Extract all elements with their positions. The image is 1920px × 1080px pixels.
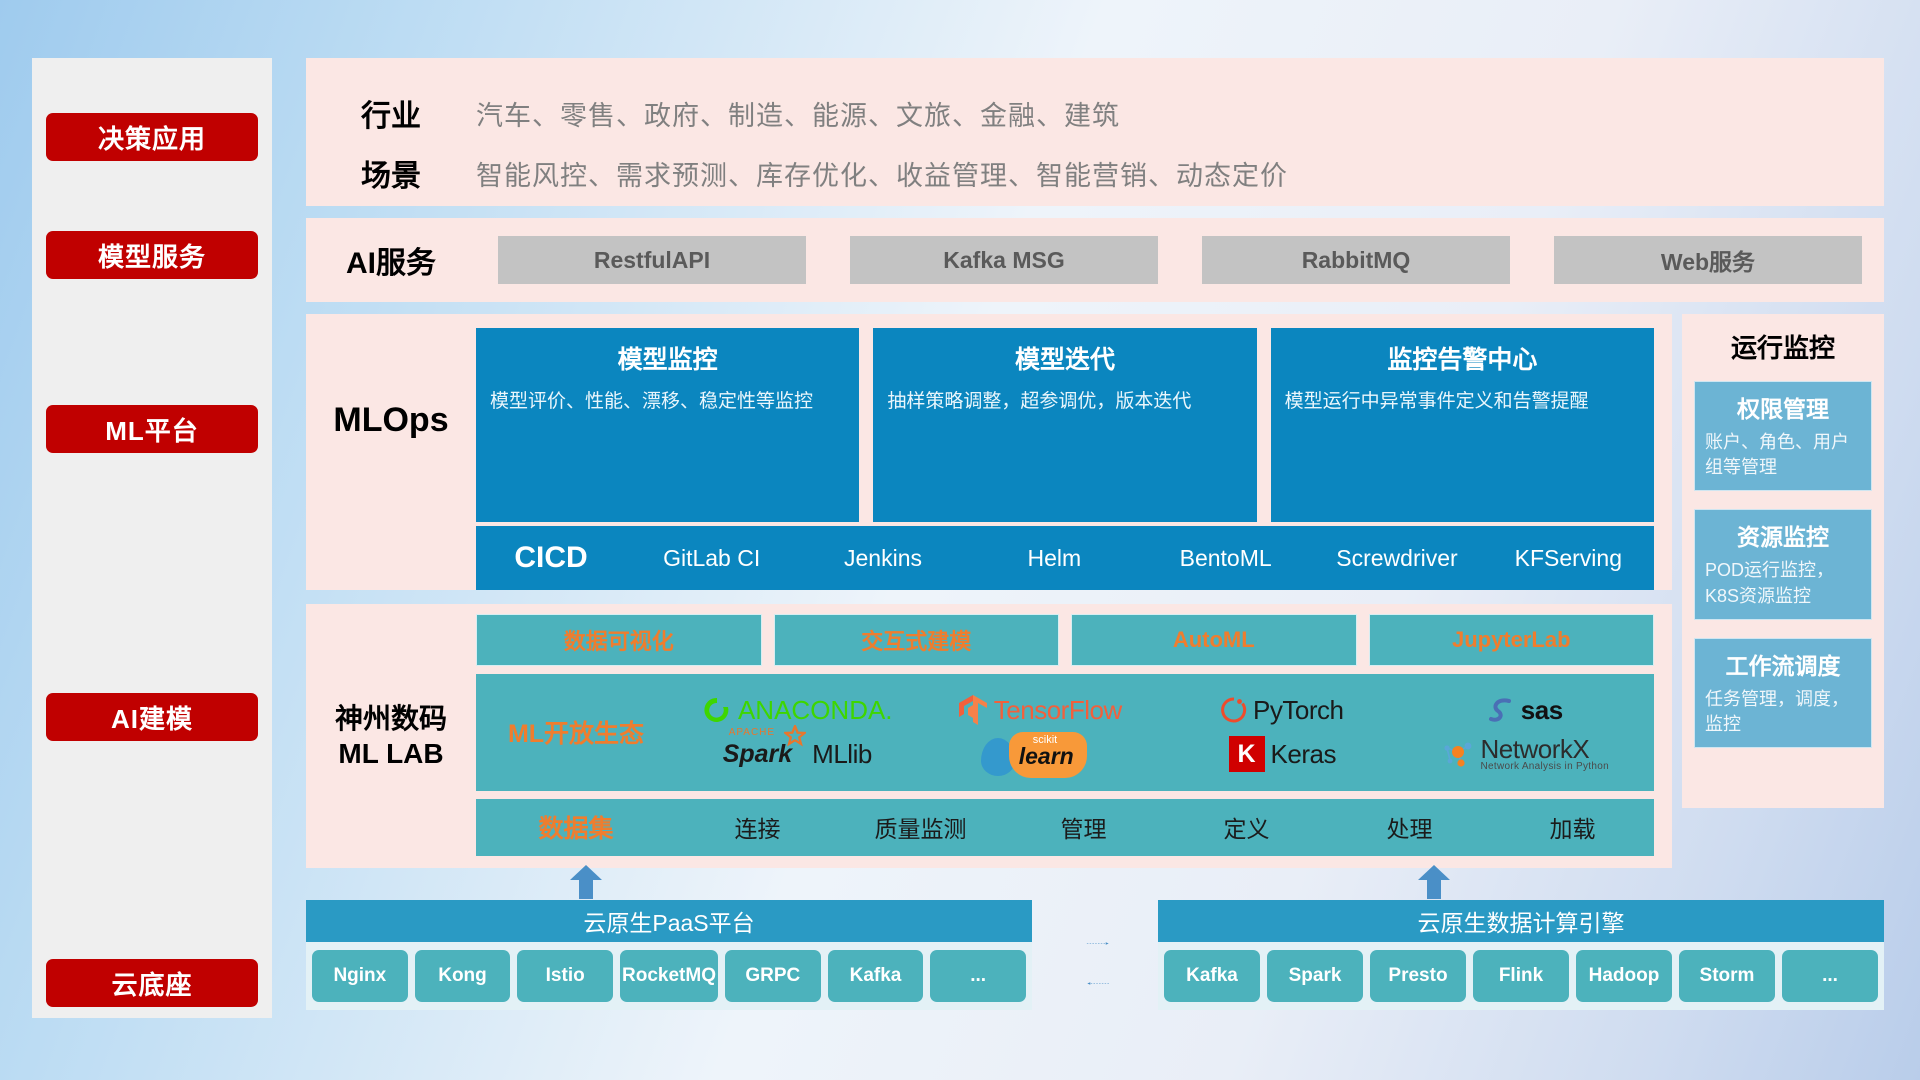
scenario-row: 场景 智能风控、需求预测、库存优化、收益管理、智能营销、动态定价 xyxy=(306,151,1884,195)
ai-service-chip-kafka-msg[interactable]: Kafka MSG xyxy=(850,236,1158,284)
platform-column: MLOps 模型监控 模型评价、性能、漂移、稳定性等监控 模型迭代 抽样策略调整… xyxy=(306,314,1672,868)
ecosystem-logo-grid: ANACONDA. TensorFlow xyxy=(676,688,1654,776)
data-chip-spark[interactable]: Spark xyxy=(1267,950,1363,1002)
pytorch-label: PyTorch xyxy=(1253,695,1343,726)
card-desc: 模型运行中异常事件定义和告警提醒 xyxy=(1285,388,1640,416)
cicd-label: CICD xyxy=(476,541,626,575)
learn-word: learn xyxy=(1019,743,1074,770)
platform-and-monitor-wrap: MLOps 模型监控 模型评价、性能、漂移、稳定性等监控 模型迭代 抽样策略调整… xyxy=(306,314,1884,868)
spark-icon: APACHE Spark xyxy=(723,740,792,769)
mlops-band: MLOps 模型监控 模型评价、性能、漂移、稳定性等监控 模型迭代 抽样策略调整… xyxy=(306,314,1672,590)
anaconda-icon xyxy=(702,695,732,725)
networkx-icon xyxy=(1441,738,1475,770)
mlops-card-model-monitoring[interactable]: 模型监控 模型评价、性能、漂移、稳定性等监控 xyxy=(476,328,859,522)
ml-open-ecosystem-label: ML开放生态 xyxy=(476,714,676,750)
cloud-native-paas-group: 云原生PaaS平台 Nginx Kong Istio RocketMQ GRPC… xyxy=(306,900,1032,1010)
ml-lab-label-line1: 神州数码 xyxy=(335,701,447,736)
networkx-label: NetworkX xyxy=(1481,736,1609,762)
dataset-item-process[interactable]: 处理 xyxy=(1328,810,1491,844)
dataset-item-define[interactable]: 定义 xyxy=(1165,810,1328,844)
dataset-item-quality[interactable]: 质量监测 xyxy=(839,810,1002,844)
ai-service-band: AI服务 RestfulAPI Kafka MSG RabbitMQ Web服务 xyxy=(306,218,1884,302)
data-chip-flink[interactable]: Flink xyxy=(1473,950,1569,1002)
tensorflow-label: TensorFlow xyxy=(994,695,1122,726)
paas-chip-kafka[interactable]: Kafka xyxy=(828,950,924,1002)
run-monitor-column: 运行监控 权限管理 账户、角色、用户组等管理 资源监控 POD运行监控，K8S资… xyxy=(1682,314,1884,868)
dashed-arrow-right-icon xyxy=(1046,942,1150,945)
paas-title: 云原生PaaS平台 xyxy=(306,900,1032,942)
keras-logo: K Keras xyxy=(1229,736,1336,772)
dataset-row: 数据集 连接 质量监测 管理 定义 处理 加载 xyxy=(476,799,1654,856)
cicd-item-helm[interactable]: Helm xyxy=(969,542,1140,574)
monitor-card-resource[interactable]: 资源监控 POD运行监控，K8S资源监控 xyxy=(1694,509,1872,619)
data-engine-title: 云原生数据计算引擎 xyxy=(1158,900,1884,942)
sas-icon xyxy=(1487,695,1515,725)
scenario-label: 场景 xyxy=(306,151,476,195)
cicd-item-screwdriver[interactable]: Screwdriver xyxy=(1311,542,1482,574)
industry-scenario-band: 行业 汽车、零售、政府、制造、能源、文旅、金融、建筑 场景 智能风控、需求预测、… xyxy=(306,58,1884,206)
card-desc: 模型评价、性能、漂移、稳定性等监控 xyxy=(490,388,845,416)
ai-service-chip-group: RestfulAPI Kafka MSG RabbitMQ Web服务 xyxy=(476,236,1884,284)
rail-item-ai-modeling[interactable]: AI建模 xyxy=(46,693,258,741)
run-monitor-title: 运行监控 xyxy=(1694,328,1872,365)
paas-chip-group: Nginx Kong Istio RocketMQ GRPC Kafka ... xyxy=(306,942,1032,1010)
mllib-label: MLlib xyxy=(812,739,872,770)
card-desc: 账户、角色、用户组等管理 xyxy=(1705,430,1861,480)
sas-logo: sas xyxy=(1487,695,1563,726)
monitor-card-permission[interactable]: 权限管理 账户、角色、用户组等管理 xyxy=(1694,381,1872,491)
rail-item-ml-platform[interactable]: ML平台 xyxy=(46,405,258,453)
networkx-tagline: Network Analysis in Python xyxy=(1481,762,1609,772)
rail-item-model-service[interactable]: 模型服务 xyxy=(46,231,258,279)
rail-item-cloud-base[interactable]: 云底座 xyxy=(46,959,258,1007)
industry-label: 行业 xyxy=(306,91,476,135)
card-desc: 任务管理，调度，监控 xyxy=(1705,687,1861,737)
scikit-learn-logo: scikit learn xyxy=(981,732,1099,776)
dataset-item-connect[interactable]: 连接 xyxy=(676,810,839,844)
mlops-label: MLOps xyxy=(306,314,476,526)
ml-lab-row: 神州数码 ML LAB 数据可视化 交互式建模 AutoML JupyterLa… xyxy=(306,604,1672,868)
card-title: 监控告警中心 xyxy=(1285,340,1640,376)
industry-row: 行业 汽车、零售、政府、制造、能源、文旅、金融、建筑 xyxy=(306,91,1884,135)
spark-apache-label: APACHE xyxy=(729,727,775,738)
mlops-card-group: 模型监控 模型评价、性能、漂移、稳定性等监控 模型迭代 抽样策略调整，超参调优，… xyxy=(476,314,1672,526)
pytorch-logo: PyTorch xyxy=(1221,695,1343,726)
paas-chip-more[interactable]: ... xyxy=(930,950,1026,1002)
left-rail: 决策应用 模型服务 ML平台 AI建模 云底座 xyxy=(32,58,272,1018)
ml-lab-tool-chip-group: 数据可视化 交互式建模 AutoML JupyterLab xyxy=(476,614,1654,666)
pytorch-icon xyxy=(1221,695,1247,725)
card-title: 模型迭代 xyxy=(887,340,1242,376)
cloud-base-section: 云原生PaaS平台 Nginx Kong Istio RocketMQ GRPC… xyxy=(306,870,1884,1030)
ml-lab-label-line2: ML LAB xyxy=(338,736,443,771)
spark-mllib-logo: APACHE Spark MLlib xyxy=(723,739,872,770)
cicd-item-jenkins[interactable]: Jenkins xyxy=(797,542,968,574)
dataset-label: 数据集 xyxy=(476,809,676,845)
data-engine-chip-group: Kafka Spark Presto Flink Hadoop Storm ..… xyxy=(1158,942,1884,1010)
scenario-values: 智能风控、需求预测、库存优化、收益管理、智能营销、动态定价 xyxy=(476,154,1288,193)
ai-service-chip-restfulapi[interactable]: RestfulAPI xyxy=(498,236,806,284)
ml-lab-band: 神州数码 ML LAB 数据可视化 交互式建模 AutoML JupyterLa… xyxy=(306,604,1672,868)
cicd-item-kfserving[interactable]: KFServing xyxy=(1483,542,1654,574)
data-chip-more[interactable]: ... xyxy=(1782,950,1878,1002)
card-desc: 抽样策略调整，超参调优，版本迭代 xyxy=(887,388,1242,416)
spark-star-icon xyxy=(784,725,806,747)
cicd-row: CICD GitLab CI Jenkins Helm BentoML Scre… xyxy=(476,526,1654,590)
data-chip-kafka[interactable]: Kafka xyxy=(1164,950,1260,1002)
tensorflow-icon xyxy=(958,694,988,726)
dashed-arrow-left-icon xyxy=(1046,982,1150,985)
card-title: 权限管理 xyxy=(1705,390,1861,424)
cloud-native-data-engine-group: 云原生数据计算引擎 Kafka Spark Presto Flink Hadoo… xyxy=(1158,900,1884,1010)
spark-word: Spark xyxy=(723,740,792,768)
ml-lab-body: 数据可视化 交互式建模 AutoML JupyterLab ML开放生态 xyxy=(476,604,1672,868)
card-desc: POD运行监控，K8S资源监控 xyxy=(1705,558,1861,608)
card-title: 资源监控 xyxy=(1705,518,1861,552)
mlops-card-model-iteration[interactable]: 模型迭代 抽样策略调整，超参调优，版本迭代 xyxy=(873,328,1256,522)
tool-chip-interactive-modeling[interactable]: 交互式建模 xyxy=(774,614,1060,666)
data-chip-storm[interactable]: Storm xyxy=(1679,950,1775,1002)
paas-chip-nginx[interactable]: Nginx xyxy=(312,950,408,1002)
scikit-learn-icon: scikit learn xyxy=(981,732,1099,776)
dataset-item-manage[interactable]: 管理 xyxy=(1002,810,1165,844)
main-stack: 行业 汽车、零售、政府、制造、能源、文旅、金融、建筑 场景 智能风控、需求预测、… xyxy=(306,58,1884,868)
up-arrow-data-engine-icon xyxy=(1416,865,1452,899)
ml-lab-label: 神州数码 ML LAB xyxy=(306,604,476,868)
tool-chip-automl[interactable]: AutoML xyxy=(1071,614,1357,666)
tool-chip-jupyterlab[interactable]: JupyterLab xyxy=(1369,614,1655,666)
keras-label: Keras xyxy=(1271,739,1336,770)
industry-values: 汽车、零售、政府、制造、能源、文旅、金融、建筑 xyxy=(476,94,1120,133)
ml-open-ecosystem-row: ML开放生态 ANACONDA. xyxy=(476,674,1654,791)
keras-icon: K xyxy=(1229,736,1265,772)
monitor-card-workflow[interactable]: 工作流调度 任务管理，调度，监控 xyxy=(1694,638,1872,748)
data-chip-hadoop[interactable]: Hadoop xyxy=(1576,950,1672,1002)
run-monitor-panel: 运行监控 权限管理 账户、角色、用户组等管理 资源监控 POD运行监控，K8S资… xyxy=(1682,314,1884,808)
mlops-card-alert-center[interactable]: 监控告警中心 模型运行中异常事件定义和告警提醒 xyxy=(1271,328,1654,522)
paas-chip-istio[interactable]: Istio xyxy=(517,950,613,1002)
tool-chip-data-visualization[interactable]: 数据可视化 xyxy=(476,614,762,666)
paas-chip-kong[interactable]: Kong xyxy=(415,950,511,1002)
sas-label: sas xyxy=(1521,695,1563,726)
tensorflow-logo: TensorFlow xyxy=(958,694,1122,726)
dataset-item-load[interactable]: 加载 xyxy=(1491,810,1654,844)
paas-chip-grpc[interactable]: GRPC xyxy=(725,950,821,1002)
anaconda-label: ANACONDA. xyxy=(738,695,893,726)
ai-service-chip-rabbitmq[interactable]: RabbitMQ xyxy=(1202,236,1510,284)
mlops-cards-row: MLOps 模型监控 模型评价、性能、漂移、稳定性等监控 模型迭代 抽样策略调整… xyxy=(306,314,1672,526)
anaconda-logo: ANACONDA. xyxy=(702,695,893,726)
card-title: 模型监控 xyxy=(490,340,845,376)
paas-chip-rocketmq[interactable]: RocketMQ xyxy=(620,950,718,1002)
networkx-logo: NetworkX Network Analysis in Python xyxy=(1441,736,1609,772)
cicd-item-bentoml[interactable]: BentoML xyxy=(1140,542,1311,574)
rail-item-decision-app[interactable]: 决策应用 xyxy=(46,113,258,161)
up-arrow-paas-icon xyxy=(568,865,604,899)
card-title: 工作流调度 xyxy=(1705,647,1861,681)
ai-service-label: AI服务 xyxy=(306,238,476,282)
data-chip-presto[interactable]: Presto xyxy=(1370,950,1466,1002)
ai-service-chip-web-service[interactable]: Web服务 xyxy=(1554,236,1862,284)
cicd-item-gitlab-ci[interactable]: GitLab CI xyxy=(626,542,797,574)
